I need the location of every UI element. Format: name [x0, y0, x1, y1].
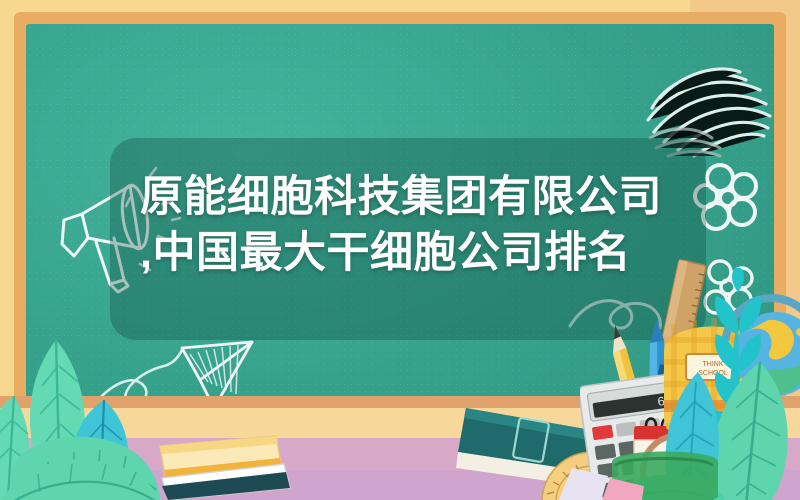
books-icon	[150, 400, 360, 500]
page-title: 原能细胞科技集团有限公司 ,中国最大干细胞公司排名	[140, 170, 700, 282]
leaf-icon	[0, 418, 170, 500]
banner-image: 原能细胞科技集团有限公司 ,中国最大干细胞公司排名	[0, 0, 800, 500]
paper-sheets-icon	[548, 462, 668, 500]
